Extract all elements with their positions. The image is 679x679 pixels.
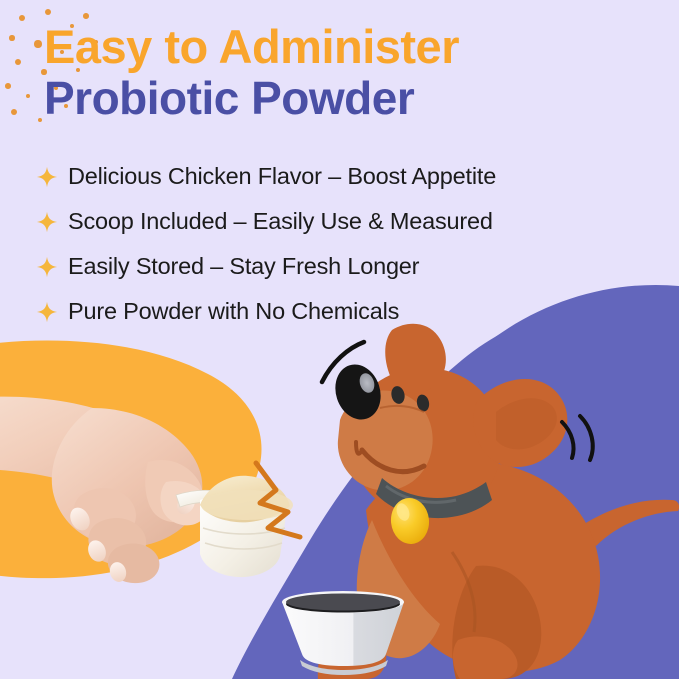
list-item: Pure Powder with No Chemicals [36,289,646,334]
list-item: Easily Stored – Stay Fresh Longer [36,244,646,289]
product-feature-poster: Easy to Administer Probiotic Powder Deli… [0,0,679,679]
headline-line-1: Easy to Administer [44,22,644,72]
sparkle-star-icon [36,301,58,323]
list-item: Delicious Chicken Flavor – Boost Appetit… [36,154,646,199]
sparkle-star-icon [36,256,58,278]
sparkle-star-icon [36,166,58,188]
page-title: Easy to Administer Probiotic Powder [44,22,644,123]
list-item-label: Pure Powder with No Chemicals [68,299,399,325]
headline-line-2: Probiotic Powder [44,74,644,123]
list-item-label: Scoop Included – Easily Use & Measured [68,209,493,235]
feature-bullet-list: Delicious Chicken Flavor – Boost Appetit… [36,154,646,334]
list-item: Scoop Included – Easily Use & Measured [36,199,646,244]
list-item-label: Easily Stored – Stay Fresh Longer [68,254,419,280]
list-item-label: Delicious Chicken Flavor – Boost Appetit… [68,164,496,190]
sparkle-star-icon [36,211,58,233]
